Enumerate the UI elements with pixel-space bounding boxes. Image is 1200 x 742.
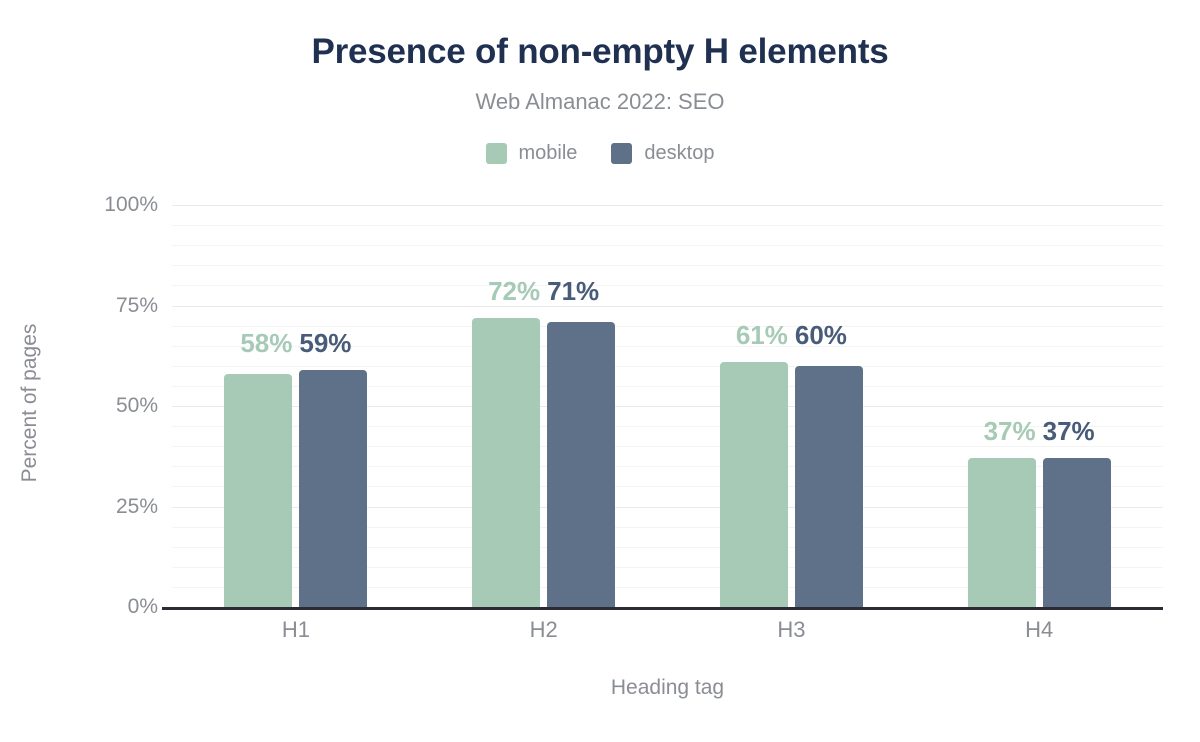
bar-H3-mobile[interactable] <box>720 362 788 607</box>
gridline <box>172 205 1163 206</box>
value-label-H4-desktop: 37% <box>1043 416 1111 446</box>
y-tick-label: 0% <box>78 595 158 619</box>
legend-label-desktop: desktop <box>644 142 714 164</box>
y-axis-tick-labels: 0%25%50%75%100% <box>72 205 158 607</box>
gridline <box>172 225 1163 226</box>
y-tick-label: 100% <box>78 193 158 217</box>
value-label-H1-mobile: 58% <box>224 328 292 358</box>
chart-legend: mobiledesktop <box>0 142 1200 164</box>
legend-swatch-mobile <box>486 143 507 164</box>
bar-H4-desktop[interactable] <box>1043 458 1111 607</box>
legend-label-mobile: mobile <box>519 142 578 164</box>
gridline <box>172 245 1163 246</box>
bar-H3-desktop[interactable] <box>795 366 863 607</box>
x-tick-label-H2: H2 <box>530 615 558 645</box>
chart-subtitle: Web Almanac 2022: SEO <box>0 88 1200 116</box>
y-tick-label: 50% <box>78 394 158 418</box>
x-tick-label-H4: H4 <box>1025 615 1053 645</box>
bar-H1-desktop[interactable] <box>299 370 367 607</box>
bar-H4-mobile[interactable] <box>968 458 1036 607</box>
gridline <box>172 285 1163 286</box>
gridline <box>172 306 1163 307</box>
chart-title: Presence of non-empty H elements <box>0 30 1200 74</box>
bar-H2-mobile[interactable] <box>472 318 540 607</box>
value-label-H2-mobile: 72% <box>472 276 540 306</box>
x-tick-label-H3: H3 <box>777 615 805 645</box>
value-label-H3-desktop: 60% <box>795 320 863 350</box>
value-label-H4-mobile: 37% <box>968 416 1036 446</box>
gridline <box>172 265 1163 266</box>
gridline <box>172 326 1163 327</box>
x-axis-tick-labels: H1H2H3H4 <box>172 615 1163 649</box>
y-axis-title: Percent of pages <box>17 313 43 493</box>
gridline <box>172 366 1163 367</box>
y-tick-label: 25% <box>78 495 158 519</box>
value-label-H2-desktop: 71% <box>547 276 615 306</box>
chart-container: Presence of non-empty H elements Web Alm… <box>0 0 1200 742</box>
value-label-H3-mobile: 61% <box>720 320 788 350</box>
y-tick-label: 75% <box>78 294 158 318</box>
x-tick-label-H1: H1 <box>282 615 310 645</box>
x-axis-title: Heading tag <box>172 675 1163 701</box>
legend-swatch-desktop <box>611 143 632 164</box>
legend-item-desktop[interactable]: desktop <box>611 142 714 164</box>
x-axis-line <box>162 607 1163 610</box>
legend-item-mobile[interactable]: mobile <box>486 142 578 164</box>
bar-H2-desktop[interactable] <box>547 322 615 607</box>
value-label-H1-desktop: 59% <box>299 328 367 358</box>
plot-area: 58%59%72%71%61%60%37%37% <box>172 205 1163 607</box>
bar-H1-mobile[interactable] <box>224 374 292 607</box>
